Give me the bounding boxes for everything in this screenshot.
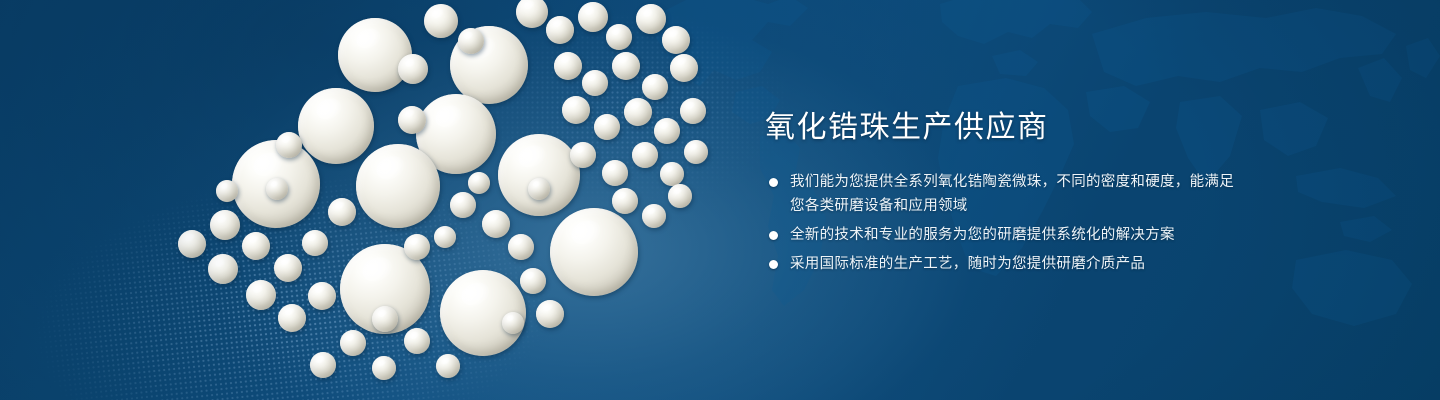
feature-text: 我们能为您提供全系列氧化锆陶瓷微珠，不同的密度和硬度，能满足您各类研磨设备和应用… [790,174,1234,214]
feature-list-item: 我们能为您提供全系列氧化锆陶瓷微珠，不同的密度和硬度，能满足您各类研磨设备和应用… [765,170,1235,218]
bullet-dot-icon [769,178,778,187]
product-hero-banner: 氧化锆珠生产供应商 我们能为您提供全系列氧化锆陶瓷微珠，不同的密度和硬度，能满足… [0,0,1440,400]
bullet-dot-icon [769,231,778,240]
bullet-dot-icon [769,260,778,269]
banner-headline: 氧化锆珠生产供应商 [765,110,1235,146]
banner-feature-list: 我们能为您提供全系列氧化锆陶瓷微珠，不同的密度和硬度，能满足您各类研磨设备和应用… [765,170,1235,276]
feature-text: 全新的技术和专业的服务为您的研磨提供系统化的解决方案 [790,227,1175,243]
feature-list-item: 全新的技术和专业的服务为您的研磨提供系统化的解决方案 [765,223,1235,247]
banner-copy-block: 氧化锆珠生产供应商 我们能为您提供全系列氧化锆陶瓷微珠，不同的密度和硬度，能满足… [765,110,1235,276]
feature-text: 采用国际标准的生产工艺，随时为您提供研磨介质产品 [790,256,1145,272]
feature-list-item: 采用国际标准的生产工艺，随时为您提供研磨介质产品 [765,252,1235,276]
